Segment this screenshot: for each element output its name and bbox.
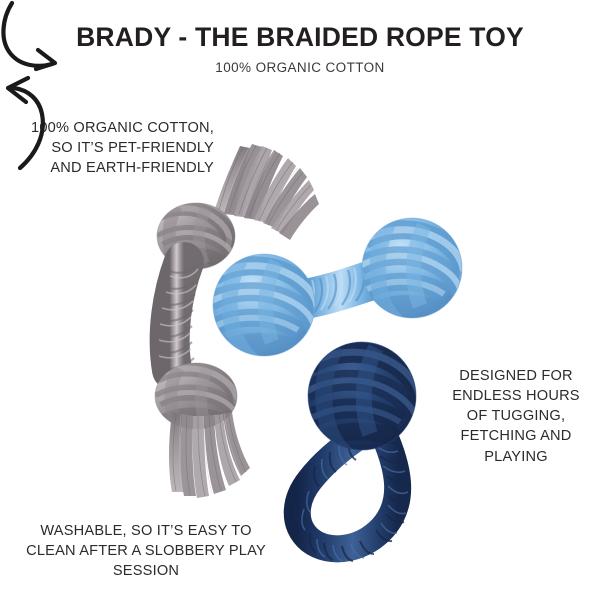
light-blue-right-knot bbox=[360, 218, 463, 330]
annotation-line: PLAYING bbox=[436, 447, 596, 467]
gray-rope-toy bbox=[154, 144, 319, 498]
gray-rope-top-tassel bbox=[214, 144, 319, 240]
curved-arrow-icon-left bbox=[0, 0, 62, 76]
annotation-line: WASHABLE, SO IT’S EASY TO bbox=[12, 521, 280, 541]
annotation-line: ENDLESS HOURS bbox=[436, 386, 596, 406]
annotation-line: SESSION bbox=[12, 561, 280, 581]
infographic-page: BRADY - THE BRAIDED ROPE TOY 100% ORGANI… bbox=[0, 0, 600, 600]
page-subtitle: 100% ORGANIC COTTON bbox=[0, 60, 600, 75]
light-blue-connector bbox=[300, 266, 378, 316]
gray-rope-shaft bbox=[154, 262, 200, 370]
annotation-line: DESIGNED FOR bbox=[436, 366, 596, 386]
page-title: BRADY - THE BRAIDED ROPE TOY bbox=[0, 24, 600, 52]
light-blue-left-knot bbox=[210, 254, 317, 366]
navy-knot-ball bbox=[306, 342, 419, 462]
navy-rope-loop bbox=[295, 430, 408, 561]
annotation-line: CLEAN AFTER A SLOBBERY PLAY bbox=[12, 541, 280, 561]
annotation-line: FETCHING AND bbox=[436, 426, 596, 446]
annotation-line: OF TUGGING, bbox=[436, 406, 596, 426]
annotation-designed-for-play: DESIGNED FOR ENDLESS HOURS OF TUGGING, F… bbox=[436, 366, 596, 467]
gray-rope-upper-knot bbox=[157, 203, 235, 282]
gray-rope-lower-knot bbox=[155, 363, 238, 429]
annotation-washable: WASHABLE, SO IT’S EASY TO CLEAN AFTER A … bbox=[12, 521, 280, 581]
navy-ball-loop-toy bbox=[295, 342, 419, 561]
curved-arrow-icon-right bbox=[0, 76, 56, 172]
header: BRADY - THE BRAIDED ROPE TOY 100% ORGANI… bbox=[0, 24, 600, 75]
gray-rope-bottom-tassel bbox=[169, 412, 250, 498]
rope-toys-illustration bbox=[0, 0, 600, 600]
light-blue-dumbbell bbox=[210, 218, 463, 366]
product-photo-stage bbox=[0, 0, 600, 600]
